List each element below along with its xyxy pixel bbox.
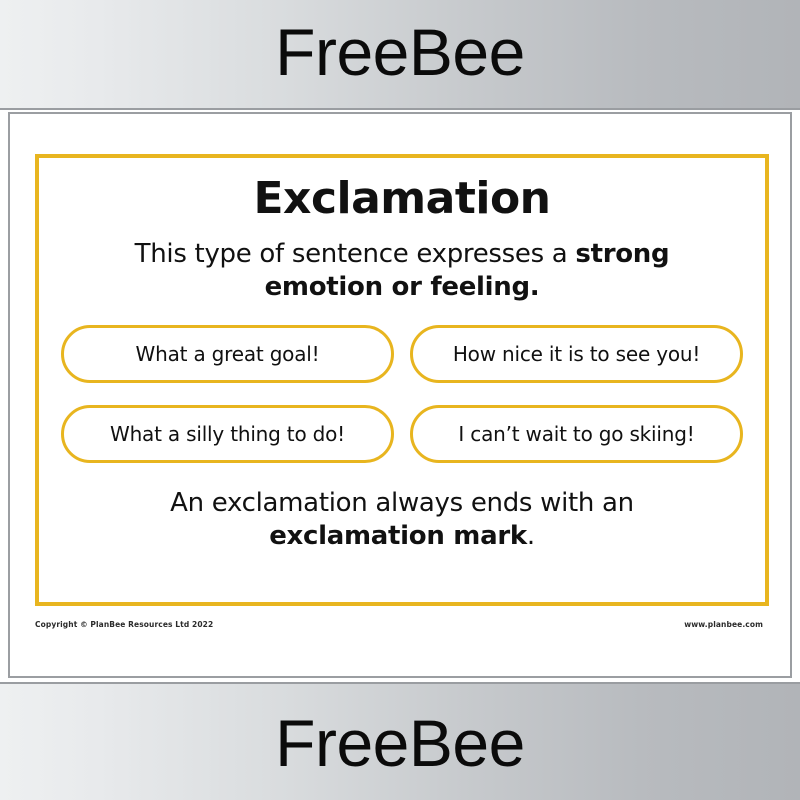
intro-text: This type of sentence expresses a strong… [81,238,723,305]
list-item: How nice it is to see you! [410,325,743,383]
bottom-banner-label: FreeBee [275,710,525,776]
outro-trail: . [527,521,535,551]
poster-footer: Copyright © PlanBee Resources Ltd 2022 w… [35,620,769,629]
screenshot-root: FreeBee Exclamation This type of sentenc… [0,0,800,800]
intro-lead: This type of sentence expresses a [135,239,576,269]
list-item: What a silly thing to do! [61,405,394,463]
example-list: What a great goal! How nice it is to see… [39,325,765,463]
copyright-text: Copyright © PlanBee Resources Ltd 2022 [35,620,213,629]
top-banner-label: FreeBee [275,19,525,85]
top-banner: FreeBee [0,0,800,110]
website-text: www.planbee.com [684,620,763,629]
list-item: I can’t wait to go skiing! [410,405,743,463]
outro-text: An exclamation always ends with an excla… [87,487,717,554]
poster-frame: Exclamation This type of sentence expres… [35,154,769,606]
poster-page: Exclamation This type of sentence expres… [8,112,792,678]
outro-emphasis: exclamation mark [269,521,527,551]
outro-lead: An exclamation always ends with an [170,488,634,518]
bottom-banner: FreeBee [0,682,800,800]
page-title: Exclamation [39,176,765,222]
list-item: What a great goal! [61,325,394,383]
